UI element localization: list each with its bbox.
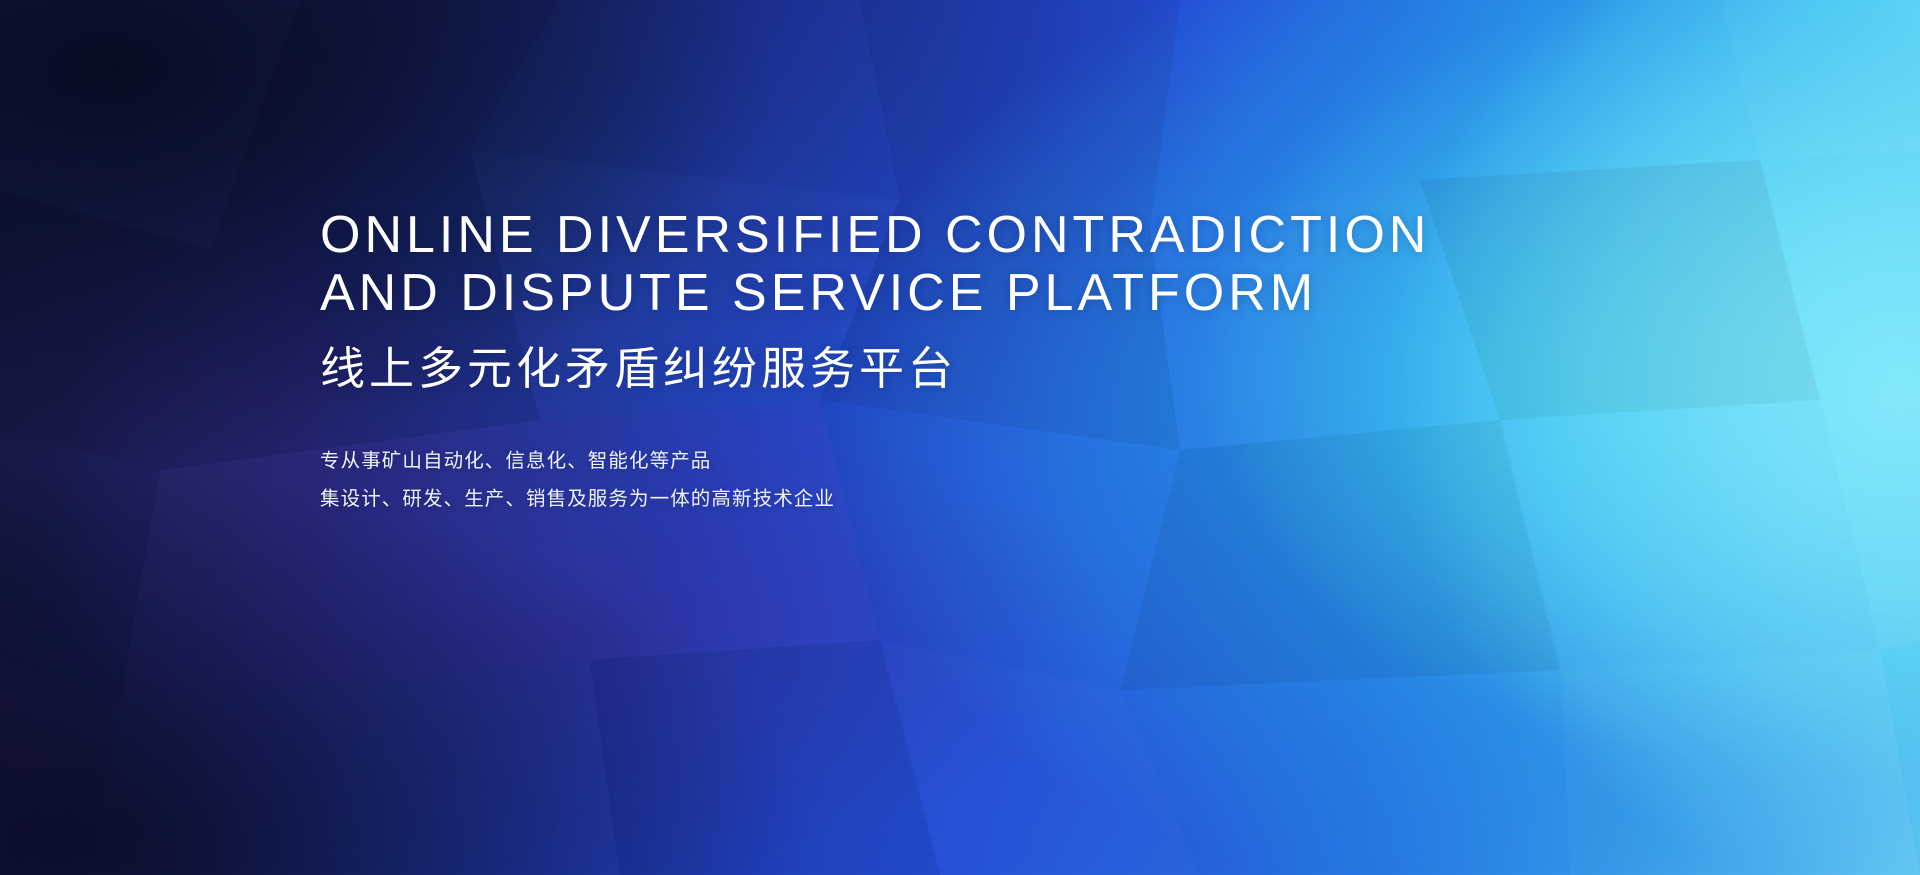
- headline-line-2: AND DISPUTE SERVICE PLATFORM: [320, 264, 1680, 322]
- body-text-block: 专从事矿山自动化、信息化、智能化等产品 集设计、研发、生产、销售及服务为一体的高…: [320, 442, 1680, 518]
- headline-line-1: ONLINE DIVERSIFIED CONTRADICTION: [320, 206, 1680, 264]
- subtitle-chinese: 线上多元化矛盾纠纷服务平台: [320, 338, 1680, 400]
- body-line-2: 集设计、研发、生产、销售及服务为一体的高新技术企业: [320, 480, 1680, 518]
- body-line-1: 专从事矿山自动化、信息化、智能化等产品: [320, 442, 1680, 480]
- hero-content: ONLINE DIVERSIFIED CONTRADICTION AND DIS…: [320, 206, 1680, 518]
- hero-banner: ONLINE DIVERSIFIED CONTRADICTION AND DIS…: [0, 0, 1920, 875]
